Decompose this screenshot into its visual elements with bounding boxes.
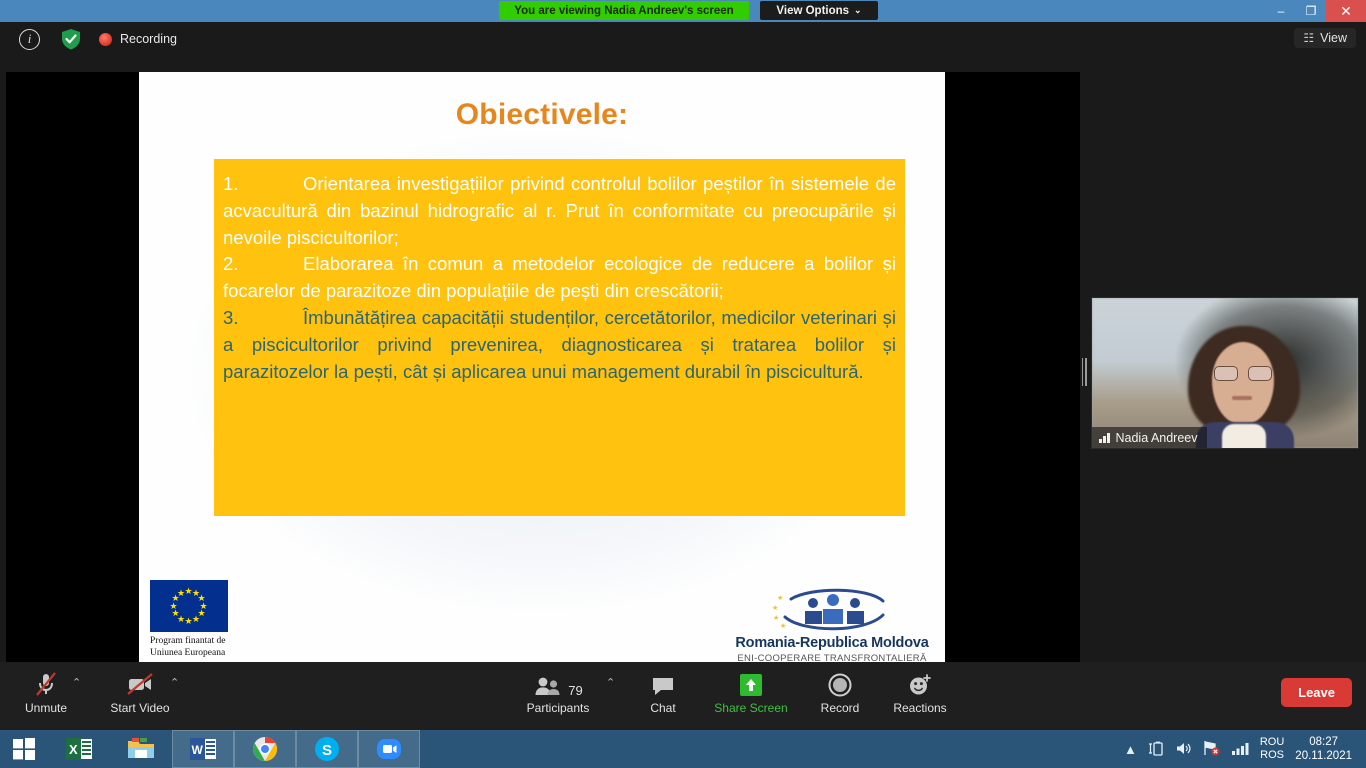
system-tray: ▲ bbox=[1124, 730, 1366, 768]
eu-star-icon: ★ bbox=[177, 589, 185, 598]
mouth-shape bbox=[1232, 396, 1252, 400]
drag-handle-line bbox=[1082, 358, 1084, 386]
eu-caption-line-1: Program finantat de bbox=[150, 636, 300, 648]
taskbar-app-file-explorer[interactable] bbox=[110, 730, 172, 768]
share-screen-label: Share Screen bbox=[714, 701, 787, 715]
grid-layout-icon: ☷ bbox=[1303, 31, 1314, 45]
objective-number-2: 2. bbox=[223, 251, 303, 278]
chat-label: Chat bbox=[650, 701, 675, 715]
leave-meeting-button[interactable]: Leave bbox=[1281, 678, 1352, 707]
start-button[interactable] bbox=[0, 730, 48, 768]
chat-button[interactable]: Chat bbox=[617, 668, 709, 715]
show-hidden-icons-button[interactable]: ▲ bbox=[1124, 743, 1137, 756]
volume-icon[interactable] bbox=[1175, 741, 1192, 758]
face-shape bbox=[1212, 342, 1274, 424]
screen-root: – ❐ ✕ You are viewing Nadia Andreev's sc… bbox=[0, 0, 1366, 768]
participants-label: Participants bbox=[527, 701, 590, 715]
window-minimize-button[interactable]: – bbox=[1266, 0, 1296, 22]
participant-name-badge: Nadia Andreev bbox=[1092, 427, 1207, 448]
panel-drag-handle[interactable] bbox=[1081, 355, 1087, 389]
slide-title: Obiectivele: bbox=[139, 98, 945, 132]
chevron-down-icon: ⌄ bbox=[854, 5, 862, 16]
share-screen-icon bbox=[738, 668, 764, 698]
svg-text:★: ★ bbox=[780, 622, 786, 630]
window-restore-button[interactable]: ❐ bbox=[1296, 0, 1326, 22]
glasses-icon bbox=[1214, 366, 1272, 381]
viewing-screen-banner: You are viewing Nadia Andreev's screen bbox=[499, 1, 749, 20]
drag-handle-line bbox=[1085, 358, 1087, 386]
svg-text:S: S bbox=[322, 742, 332, 759]
objective-text-1: Orientarea investigațiilor privind contr… bbox=[223, 173, 896, 248]
clock-time: 08:27 bbox=[1309, 736, 1338, 748]
eu-star-icon: ★ bbox=[185, 617, 193, 626]
participants-icon: 79 bbox=[533, 668, 582, 698]
unmute-label: Unmute bbox=[25, 701, 67, 715]
presentation-slide: Obiectivele: 1.Orientarea investigațiilo… bbox=[139, 72, 945, 674]
objective-item-2: 2.Elaborarea în comun a metodelor ecolog… bbox=[222, 251, 897, 305]
notification-flag-icon[interactable] bbox=[1203, 740, 1220, 758]
svg-text:★: ★ bbox=[773, 614, 779, 622]
eu-logo-caption: Program finantat de Uniunea Europeana bbox=[150, 636, 300, 660]
objective-item-1: 1.Orientarea investigațiilor privind con… bbox=[222, 171, 897, 251]
view-options-label: View Options bbox=[776, 5, 849, 17]
video-thumbnail[interactable]: Nadia Andreev bbox=[1091, 297, 1359, 449]
objective-text-3: Îmbunătățirea capacității studenților, c… bbox=[223, 307, 896, 382]
objective-item-3: 3.Îmbunătățirea capacității studenților,… bbox=[222, 305, 897, 385]
svg-text:W: W bbox=[192, 743, 204, 757]
objectives-box: 1.Orientarea investigațiilor privind con… bbox=[214, 159, 905, 516]
glasses-lens-right bbox=[1248, 366, 1272, 381]
info-icon[interactable]: i bbox=[19, 29, 40, 50]
video-options-caret[interactable]: ⌃ bbox=[170, 676, 179, 689]
record-icon bbox=[827, 668, 853, 698]
objective-number-1: 1. bbox=[223, 171, 303, 198]
objective-number-3: 3. bbox=[223, 305, 303, 332]
eu-caption-line-2: Uniunea Europeana bbox=[150, 648, 300, 660]
recording-dot-icon bbox=[99, 33, 112, 46]
share-screen-button[interactable]: Share Screen bbox=[705, 668, 797, 715]
signal-bars-icon bbox=[1099, 432, 1110, 443]
taskbar-app-word[interactable]: W bbox=[172, 730, 234, 768]
reactions-smiley-icon bbox=[907, 668, 933, 698]
keyboard-language-indicator[interactable]: ROU ROS bbox=[1260, 736, 1284, 762]
lang-line-1: ROU bbox=[1260, 736, 1284, 748]
network-bars-icon[interactable] bbox=[1231, 741, 1249, 758]
participant-name-label: Nadia Andreev bbox=[1116, 431, 1198, 445]
romania-moldova-logo: ★ ★ ★ ★ Romania-Republica Moldova ENI-CO… bbox=[727, 587, 937, 664]
objective-text-2: Elaborarea în comun a metodelor ecologic… bbox=[223, 253, 896, 301]
taskbar-app-excel[interactable]: X bbox=[48, 730, 110, 768]
eu-star-icon: ★ bbox=[192, 615, 200, 624]
meeting-toolbar: Unmute ⌃ Start Video ⌃ bbox=[0, 662, 1366, 730]
microphone-muted-icon bbox=[32, 668, 60, 698]
recording-indicator[interactable]: Recording bbox=[99, 32, 177, 46]
audio-options-caret[interactable]: ⌃ bbox=[72, 676, 81, 689]
chat-bubble-icon bbox=[650, 668, 676, 698]
view-options-button[interactable]: View Options ⌄ bbox=[760, 1, 878, 20]
reactions-button[interactable]: Reactions bbox=[874, 668, 966, 715]
recording-label: Recording bbox=[120, 32, 177, 46]
eu-flag-icon: ★★★★★★★★★★★★ bbox=[150, 580, 228, 632]
participants-count: 79 bbox=[568, 683, 582, 698]
svg-text:★: ★ bbox=[777, 594, 783, 602]
participants-options-caret[interactable]: ⌃ bbox=[606, 676, 615, 689]
reactions-label: Reactions bbox=[893, 701, 946, 715]
record-button[interactable]: Record bbox=[794, 668, 886, 715]
taskbar-app-zoom[interactable] bbox=[358, 730, 420, 768]
record-label: Record bbox=[821, 701, 860, 715]
windows-taskbar: X W bbox=[0, 730, 1366, 768]
camera-stopped-icon bbox=[124, 668, 156, 698]
taskbar-app-skype[interactable]: S bbox=[296, 730, 358, 768]
lang-line-2: ROS bbox=[1260, 749, 1284, 761]
window-close-button[interactable]: ✕ bbox=[1326, 0, 1366, 22]
participants-button[interactable]: 79 Participants bbox=[512, 668, 604, 715]
svg-text:X: X bbox=[69, 742, 78, 757]
shared-screen-stage[interactable]: Obiectivele: 1.Orientarea investigațiilo… bbox=[6, 72, 1080, 674]
meeting-top-strip: i Recording ☷ View bbox=[0, 22, 1366, 56]
svg-text:★: ★ bbox=[772, 604, 778, 612]
eu-logo: ★★★★★★★★★★★★ Program finantat de Uniunea… bbox=[150, 580, 300, 660]
start-video-label: Start Video bbox=[110, 701, 169, 715]
cooperation-people-icon: ★ ★ ★ ★ bbox=[727, 587, 937, 635]
glasses-lens-left bbox=[1214, 366, 1238, 381]
battery-icon[interactable] bbox=[1148, 741, 1164, 758]
collar-shape bbox=[1222, 424, 1266, 449]
view-layout-label: View bbox=[1320, 31, 1347, 45]
clock[interactable]: 08:27 20.11.2021 bbox=[1295, 735, 1358, 763]
romania-moldova-title: Romania-Republica Moldova bbox=[727, 635, 937, 651]
clock-date: 20.11.2021 bbox=[1295, 750, 1352, 762]
taskbar-app-chrome[interactable] bbox=[234, 730, 296, 768]
view-layout-button[interactable]: ☷ View bbox=[1294, 28, 1356, 48]
shield-icon[interactable] bbox=[61, 28, 81, 50]
